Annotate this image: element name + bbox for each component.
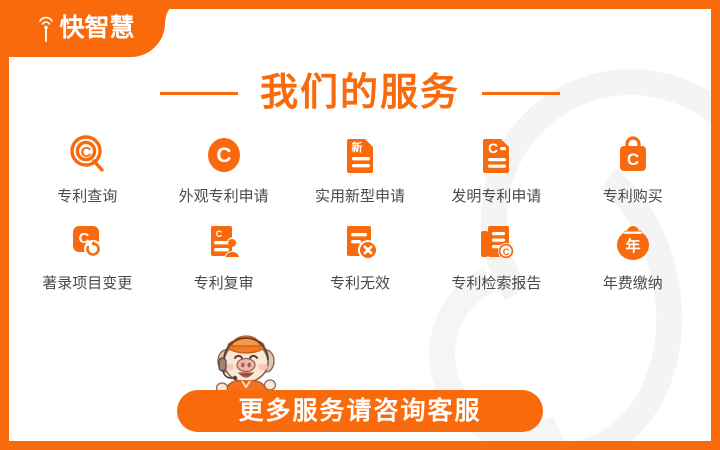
- service-label: 专利检索报告: [451, 276, 541, 291]
- service-item-patent-search[interactable]: C 专利查询: [19, 131, 155, 204]
- service-item-annual-fee[interactable]: 年 年费缴纳: [565, 218, 701, 291]
- svg-text:新: 新: [351, 140, 362, 154]
- contact-support-button[interactable]: 更多服务请咨询客服: [177, 390, 543, 432]
- document-copyright-icon: C: [472, 131, 520, 179]
- copyright-circle-icon: C: [200, 131, 248, 179]
- services-grid: C 专利查询 C 外观专利申请 新: [9, 131, 711, 291]
- service-item-design-patent[interactable]: C 外观专利申请: [155, 131, 291, 204]
- service-label: 专利复审: [194, 276, 254, 291]
- service-label: 发明专利申请: [451, 189, 541, 204]
- svg-text:C: C: [81, 144, 92, 161]
- service-item-patent-reexamination[interactable]: C 专利复审: [155, 218, 291, 291]
- copyright-refresh-icon: C: [63, 218, 111, 266]
- shopping-bag-copyright-icon: C: [609, 131, 657, 179]
- svg-text:C: C: [503, 247, 510, 257]
- brand-logo-tab[interactable]: 快智慧: [0, 0, 165, 57]
- service-item-patent-invalidation[interactable]: 专利无效: [292, 218, 428, 291]
- service-item-utility-model[interactable]: 新 实用新型申请: [292, 131, 428, 204]
- customer-service-pig-mascot: [208, 333, 284, 395]
- service-label: 专利无效: [330, 276, 390, 291]
- flask-antenna-icon: [36, 14, 56, 44]
- service-item-invention-patent[interactable]: C 发明专利申请: [428, 131, 564, 204]
- page-title: 我们的服务: [260, 74, 460, 112]
- contact-support-label: 更多服务请咨询客服: [238, 399, 481, 424]
- title-rule-right: [482, 92, 560, 95]
- service-label: 专利购买: [603, 189, 663, 204]
- svg-text:C: C: [215, 229, 222, 239]
- brand-logo-text: 快智慧: [59, 16, 134, 41]
- service-label: 著录项目变更: [42, 276, 132, 291]
- svg-text:年: 年: [625, 237, 640, 255]
- service-label: 专利查询: [57, 189, 117, 204]
- service-page: 快智慧 我们的服务 C 专利查询: [0, 0, 720, 450]
- service-label: 年费缴纳: [603, 276, 663, 291]
- service-item-bibliographic-change[interactable]: C 著录项目变更: [19, 218, 155, 291]
- service-item-patent-purchase[interactable]: C 专利购买: [565, 131, 701, 204]
- document-person-icon: C: [200, 218, 248, 266]
- service-label: 实用新型申请: [315, 189, 405, 204]
- page-title-row: 我们的服务: [9, 65, 711, 121]
- svg-text:C: C: [216, 144, 231, 167]
- annual-fee-icon: 年: [609, 218, 657, 266]
- copyright-search-icon: C: [63, 131, 111, 179]
- document-new-icon: 新: [336, 131, 384, 179]
- svg-text:C: C: [627, 150, 639, 169]
- document-cancel-icon: [336, 218, 384, 266]
- svg-text:C: C: [488, 140, 498, 156]
- service-item-search-report[interactable]: C 专利检索报告: [428, 218, 564, 291]
- title-rule-left: [160, 92, 238, 95]
- service-label: 外观专利申请: [179, 189, 269, 204]
- report-copyright-icon: C: [472, 218, 520, 266]
